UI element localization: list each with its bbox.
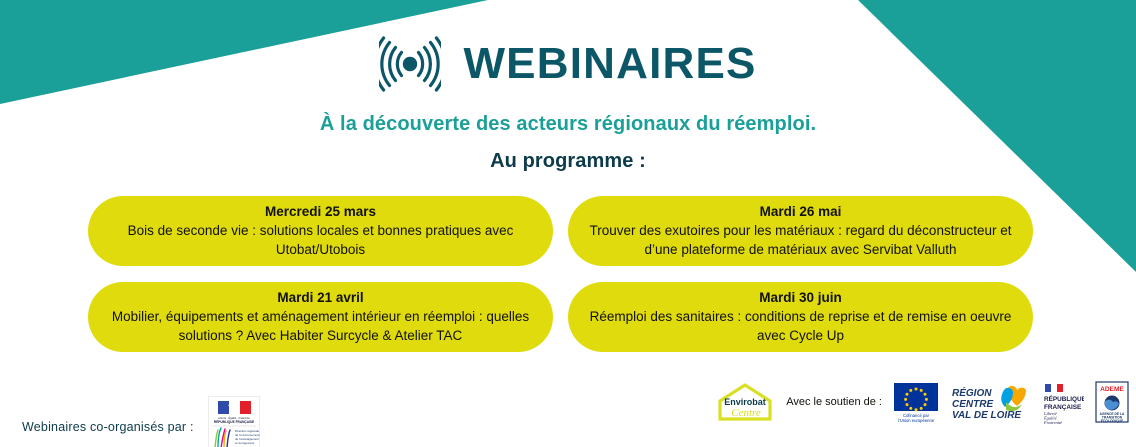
webinar-description: Trouver des exutoires pour les matériaux… [586, 222, 1015, 258]
organised-by-label: Webinaires co-organisés par : [22, 420, 194, 434]
union-europeenne-logo: Cofinancé par l’Union européenne [892, 380, 940, 424]
webinar-description: Mobilier, équipements et aménagement int… [106, 308, 535, 344]
webinar-date: Mercredi 25 mars [265, 203, 376, 221]
webinar-description: Bois de seconde vie : solutions locales … [106, 222, 535, 258]
support-label: Avec le soutien de : [786, 396, 882, 408]
webinar-date: Mardi 30 juin [759, 289, 842, 307]
svg-text:RÉGION: RÉGION [952, 386, 992, 399]
webinar-date: Mardi 21 avril [277, 289, 363, 307]
svg-text:ADEME: ADEME [1100, 386, 1124, 393]
poster-header: WEBINAIRES [0, 28, 1136, 100]
svg-text:RÉPUBLIQUE FRANÇAISE: RÉPUBLIQUE FRANÇAISE [213, 419, 253, 424]
ademe-logo: ADEME AGENCE DE LA TRANSITION ÉCOLOGIQUE [1094, 380, 1130, 424]
webinar-card[interactable]: Mardi 21 avril Mobilier, équipements et … [88, 282, 553, 352]
dreal-centre-val-de-loire-logo: Liberté · Égalité · Fraternité RÉPUBLIQU… [208, 396, 260, 447]
envirobat-centre-logo: Envirobat Centre [714, 381, 776, 423]
page-title: WEBINAIRES [463, 42, 756, 86]
svg-text:RÉPUBLIQUE: RÉPUBLIQUE [1044, 394, 1084, 403]
broadcast-wifi-icon [379, 36, 441, 92]
svg-text:et du logement: et du logement [235, 441, 254, 445]
svg-text:Fraternité: Fraternité [1043, 420, 1063, 424]
webinar-card-grid: Mercredi 25 mars Bois de seconde vie : s… [88, 196, 1033, 352]
webinar-card[interactable]: Mardi 26 mai Trouver des exutoires pour … [568, 196, 1033, 266]
svg-text:CENTRE: CENTRE [952, 399, 993, 410]
footer-supporters: Envirobat Centre Avec le soutien de : Co… [714, 380, 1130, 424]
webinar-card[interactable]: Mercredi 25 mars Bois de seconde vie : s… [88, 196, 553, 266]
webinar-date: Mardi 26 mai [760, 203, 842, 221]
programme-label: Au programme : [0, 150, 1136, 173]
webinar-card[interactable]: Mardi 30 juin Réemploi des sanitaires : … [568, 282, 1033, 352]
svg-text:Centre: Centre [731, 407, 761, 419]
republique-francaise-logo: RÉPUBLIQUE FRANÇAISE Liberté Égalité Fra… [1040, 380, 1084, 424]
poster-canvas: WEBINAIRES À la découverte des acteurs r… [0, 0, 1136, 447]
poster-footer: Webinaires co-organisés par : Liberté · … [0, 372, 1136, 447]
svg-text:VAL DE LOIRE: VAL DE LOIRE [952, 410, 1021, 421]
svg-text:FRANÇAISE: FRANÇAISE [1044, 404, 1082, 411]
svg-text:l’Union européenne: l’Union européenne [898, 418, 935, 423]
svg-text:ÉCOLOGIQUE: ÉCOLOGIQUE [1101, 418, 1124, 423]
webinar-description: Réemploi des sanitaires : conditions de … [586, 308, 1015, 344]
poster-subtitle: À la découverte des acteurs régionaux du… [0, 113, 1136, 136]
footer-organisers: Webinaires co-organisés par : Liberté · … [22, 396, 260, 447]
svg-text:Envirobat: Envirobat [724, 397, 766, 407]
region-centre-val-de-loire-logo: RÉGION CENTRE VAL DE LOIRE [950, 380, 1030, 424]
